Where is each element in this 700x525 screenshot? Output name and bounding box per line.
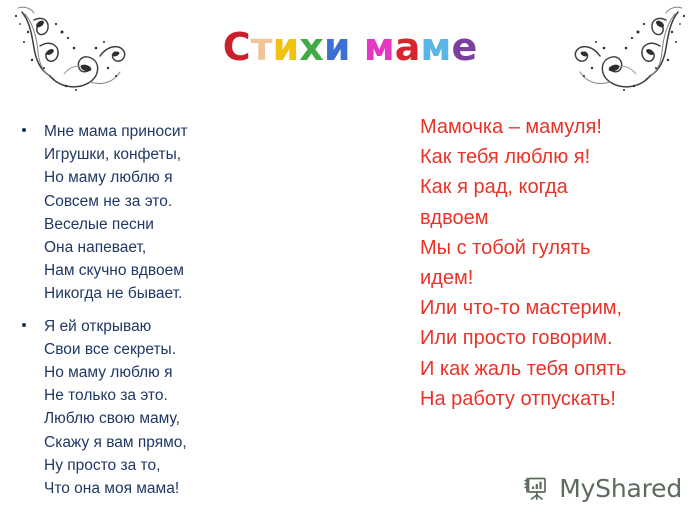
poem-line: И как жаль тебя опять: [420, 354, 696, 384]
poem-line: Не только за это.: [44, 384, 270, 407]
title-letter-1: т: [251, 25, 273, 69]
left-stanza-0: Мне мама приноситИгрушки, конфеты,Но мам…: [8, 120, 270, 306]
title-letter-3: х: [299, 25, 324, 69]
poem-line: Никогда не бывает.: [44, 282, 270, 305]
title-letter-7: а: [395, 25, 421, 69]
poem-line: Как тебя люблю я!: [420, 142, 696, 172]
poem-line: Ну просто за то,: [44, 454, 270, 477]
poem-line: Но маму люблю я: [44, 166, 270, 189]
poem-line: Но маму люблю я: [44, 361, 270, 384]
poem-line: Скажу я вам прямо,: [44, 431, 270, 454]
title-letter-5: [350, 25, 363, 69]
right-poem-column: Мамочка – мамуля!Как тебя люблю я!Как я …: [420, 112, 696, 414]
page-title: Стихи маме: [0, 28, 700, 68]
bullet-icon: [22, 323, 26, 327]
poem-line: Веселые песни: [44, 213, 270, 236]
poem-line: Что она моя мама!: [44, 477, 270, 500]
myshared-logo[interactable]: MyShared: [522, 473, 682, 503]
poem-line: вдвоем: [420, 203, 696, 233]
poem-line: На работу отпускать!: [420, 384, 696, 414]
poem-line: Или что-то мастерим,: [420, 293, 696, 323]
title-letter-4: и: [324, 25, 351, 69]
title-rainbow-text: Стихи маме: [223, 28, 478, 68]
poem-line: Или просто говорим.: [420, 323, 696, 353]
poem-line: Игрушки, конфеты,: [44, 143, 270, 166]
poem-line: Мамочка – мамуля!: [420, 112, 696, 142]
poem-line: Свои все секреты.: [44, 338, 270, 361]
title-letter-2: и: [273, 25, 300, 69]
title-letter-8: м: [420, 25, 451, 69]
myshared-logo-text: MyShared: [559, 476, 682, 501]
presentation-chart-icon: [522, 473, 552, 503]
poem-line: идем!: [420, 263, 696, 293]
title-letter-6: м: [364, 25, 395, 69]
poem-line: Как я рад, когда: [420, 172, 696, 202]
poem-line: Я ей открываю: [44, 315, 270, 338]
poem-line: Мы с тобой гулять: [420, 233, 696, 263]
poem-line: Она напевает,: [44, 236, 270, 259]
poem-line: Люблю свою маму,: [44, 407, 270, 430]
poem-line: Нам скучно вдвоем: [44, 259, 270, 282]
title-letter-0: С: [223, 25, 251, 69]
poem-line: Совсем не за это.: [44, 190, 270, 213]
left-poem-column: Мне мама приноситИгрушки, конфеты,Но мам…: [8, 120, 270, 509]
poem-line: Мне мама приносит: [44, 120, 270, 143]
title-letter-9: е: [451, 25, 477, 69]
bullet-icon: [22, 128, 26, 132]
left-stanza-1: Я ей открываюСвои все секреты.Но маму лю…: [8, 315, 270, 501]
